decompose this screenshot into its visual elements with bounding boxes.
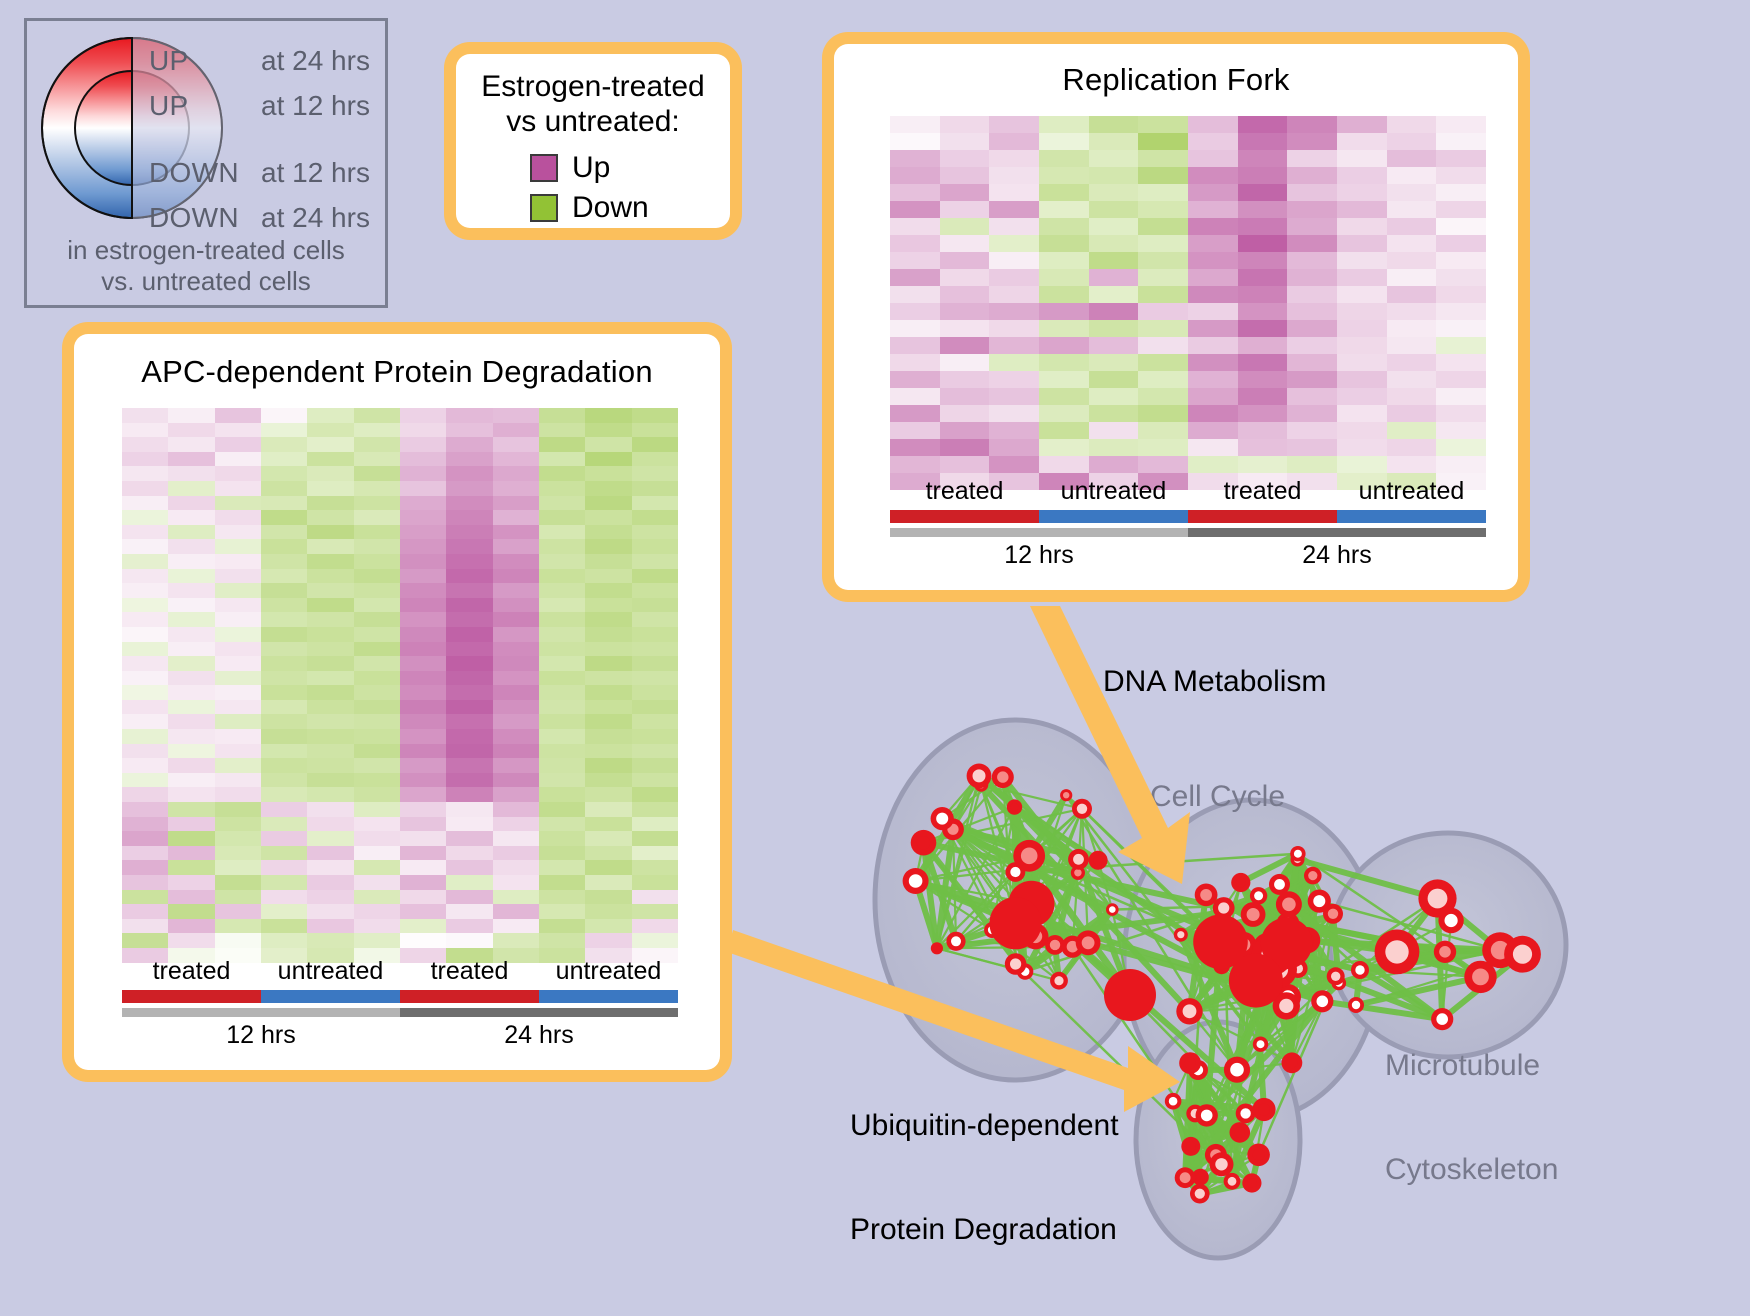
network-node[interactable]	[1076, 930, 1101, 955]
heatmap-cell	[940, 116, 990, 133]
network-node[interactable]	[1007, 799, 1022, 814]
heatmap-cell	[354, 437, 400, 452]
node-core	[1218, 902, 1229, 913]
legend-item-up: Up	[530, 148, 720, 188]
heatmap-cell	[400, 773, 446, 788]
node-core	[1195, 1189, 1205, 1199]
heatmap-cell	[585, 481, 631, 496]
network-node[interactable]	[1434, 941, 1456, 963]
heatmap-cell	[632, 744, 678, 759]
heatmap-cell	[1238, 371, 1288, 388]
heatmap-cell	[1089, 371, 1139, 388]
heatmap-cell	[354, 773, 400, 788]
network-node[interactable]	[989, 897, 1041, 949]
heatmap-cell	[989, 218, 1039, 235]
heatmap-cell	[307, 802, 353, 817]
network-node[interactable]	[1068, 849, 1089, 870]
heatmap-cell	[400, 846, 446, 861]
network-node[interactable]	[1175, 1167, 1196, 1188]
network-node[interactable]	[1176, 998, 1202, 1024]
heatmap-cell	[539, 919, 585, 934]
heatmap-cell	[1238, 354, 1288, 371]
network-node[interactable]	[1224, 1173, 1241, 1190]
heatmap-cell	[539, 423, 585, 438]
sample-group-colorbar-segment	[1039, 510, 1188, 523]
heatmap-cell	[261, 656, 307, 671]
heatmap-cell	[1287, 218, 1337, 235]
heatmap-cell	[1337, 456, 1387, 473]
heatmap-cell	[215, 846, 261, 861]
heatmap-cell	[890, 388, 940, 405]
heatmap-cell	[400, 831, 446, 846]
heatmap-cell	[261, 525, 307, 540]
network-node[interactable]	[1089, 851, 1108, 870]
heatmap-cell	[1337, 116, 1387, 133]
heatmap-cell	[307, 919, 353, 934]
heatmap-cell	[354, 466, 400, 481]
heatmap-cell	[1337, 133, 1387, 150]
heatmap-cell	[1188, 439, 1238, 456]
heatmap-cell	[1188, 150, 1238, 167]
heatmap-cell	[539, 656, 585, 671]
heatmap-cell	[261, 714, 307, 729]
heatmap-cell	[585, 466, 631, 481]
heatmap-cell	[446, 714, 492, 729]
heatmap-cell	[585, 714, 631, 729]
heatmap-cell	[989, 116, 1039, 133]
network-node[interactable]	[1072, 799, 1092, 819]
heatmap-cell	[307, 642, 353, 657]
heatmap-cell	[354, 554, 400, 569]
colorbar-row-value: at 24 hrs	[261, 202, 370, 234]
heatmap-cell	[1387, 371, 1437, 388]
heatmap-cell	[1238, 337, 1288, 354]
heatmap-cell	[989, 167, 1039, 184]
network-node[interactable]	[1290, 846, 1305, 861]
heatmap-cell	[1188, 218, 1238, 235]
heatmap-cell	[539, 758, 585, 773]
heatmap-cell	[446, 496, 492, 511]
heatmap-cell	[940, 269, 990, 286]
heatmap-cell	[400, 714, 446, 729]
timepoint-labels: 12 hrs24 hrs	[122, 1021, 678, 1050]
network-node[interactable]	[1165, 1093, 1182, 1110]
sample-group-colorbar-segment	[890, 510, 1039, 523]
network-node[interactable]	[1375, 930, 1420, 975]
heatmap-cell	[632, 846, 678, 861]
heatmap-cell	[539, 466, 585, 481]
heatmap-cell	[261, 817, 307, 832]
network-node[interactable]	[1282, 1052, 1303, 1073]
heatmap-cell	[1089, 405, 1139, 422]
heatmap-cell	[122, 802, 168, 817]
heatmap-cell	[1039, 371, 1089, 388]
node-core	[1200, 889, 1212, 901]
heatmap-cell	[1039, 388, 1089, 405]
heatmap-cell	[632, 423, 678, 438]
node-core	[1274, 879, 1285, 890]
heatmap-cell	[632, 671, 678, 686]
heatmap-cell	[1287, 422, 1337, 439]
heatmap-cell	[122, 539, 168, 554]
network-node[interactable]	[1308, 890, 1331, 913]
heatmap-cell	[1287, 133, 1337, 150]
heatmap-cell	[632, 539, 678, 554]
heatmap-cell	[168, 656, 214, 671]
heatmap-cell	[989, 201, 1039, 218]
heatmap-cell	[446, 933, 492, 948]
updown-legend-panel: Estrogen-treated vs untreated: Up Down	[444, 42, 742, 240]
heatmap-cell	[307, 466, 353, 481]
network-node[interactable]	[1195, 884, 1218, 907]
network-node[interactable]	[931, 807, 954, 830]
heatmap-cell	[890, 167, 940, 184]
heatmap-cell	[539, 671, 585, 686]
heatmap-cell	[215, 758, 261, 773]
node-core	[1054, 976, 1063, 985]
network-node[interactable]	[1181, 1137, 1200, 1156]
heatmap-cell	[539, 714, 585, 729]
heatmap-cell	[400, 598, 446, 613]
heatmap-cell	[1287, 320, 1337, 337]
heatmap-cell	[307, 831, 353, 846]
heatmap-cell	[307, 539, 353, 554]
network-node[interactable]	[1250, 887, 1267, 904]
node-core	[1082, 936, 1095, 949]
heatmap-cell	[446, 671, 492, 686]
heatmap-cell	[1138, 235, 1188, 252]
network-node[interactable]	[1253, 1037, 1268, 1052]
heatmap-cell	[1436, 388, 1486, 405]
heatmap-cell	[539, 539, 585, 554]
heatmap-cell	[446, 773, 492, 788]
heatmap-cell	[400, 919, 446, 934]
network-node[interactable]	[1231, 873, 1250, 892]
heatmap-cell	[215, 466, 261, 481]
apc-degradation-inner: APC-dependent Protein Degradation treate…	[74, 334, 720, 1070]
node-core	[1074, 869, 1081, 876]
network-node[interactable]	[1348, 997, 1364, 1013]
heatmap-cell	[400, 729, 446, 744]
heatmap-cell	[539, 744, 585, 759]
network-node[interactable]	[1230, 1122, 1251, 1143]
network-node[interactable]	[967, 764, 992, 789]
heatmap-cell	[446, 904, 492, 919]
heatmap-cell	[1238, 150, 1288, 167]
heatmap-cell	[1089, 439, 1139, 456]
apc-degradation-panel: APC-dependent Protein Degradation treate…	[62, 322, 732, 1082]
network-node[interactable]	[1210, 1152, 1234, 1176]
heatmap-cell	[307, 787, 353, 802]
heatmap-cell	[890, 269, 940, 286]
heatmap-cell	[1188, 371, 1238, 388]
heatmap-cell	[1188, 184, 1238, 201]
heatmap-cell	[122, 831, 168, 846]
heatmap-cell	[493, 656, 539, 671]
heatmap-cell	[989, 422, 1039, 439]
node-core	[1077, 804, 1087, 814]
heatmap-cell	[122, 875, 168, 890]
apc-degradation-heatmap	[122, 408, 678, 963]
heatmap-cell	[215, 612, 261, 627]
heatmap-cell	[1287, 286, 1337, 303]
heatmap-cell	[168, 744, 214, 759]
node-core	[1230, 1063, 1244, 1077]
heatmap-cell	[1238, 116, 1288, 133]
heatmap-cell	[1436, 269, 1486, 286]
node-outer-ring	[989, 897, 1041, 949]
heatmap-cell	[1039, 133, 1089, 150]
node-core	[1235, 1127, 1246, 1138]
heatmap-cell	[1436, 354, 1486, 371]
network-node[interactable]	[1504, 936, 1541, 973]
node-core	[1258, 1104, 1270, 1116]
heatmap-cell	[1337, 184, 1387, 201]
heatmap-cell	[585, 846, 631, 861]
node-core	[1253, 1149, 1265, 1161]
network-node[interactable]	[931, 942, 943, 954]
heatmap-cell	[1436, 405, 1486, 422]
heatmap-cell	[539, 846, 585, 861]
network-node[interactable]	[1196, 1104, 1218, 1126]
heatmap-cell	[940, 235, 990, 252]
heatmap-cell	[1287, 201, 1337, 218]
heatmap-cell	[261, 904, 307, 919]
node-core	[934, 945, 940, 951]
network-node[interactable]	[1304, 867, 1322, 885]
heatmap-cell	[493, 598, 539, 613]
heatmap-cell	[539, 729, 585, 744]
heatmap-cell	[493, 890, 539, 905]
heatmap-cell	[1337, 337, 1387, 354]
heatmap-cell	[539, 890, 585, 905]
network-node[interactable]	[911, 830, 937, 856]
network-node[interactable]	[1060, 789, 1072, 801]
replication-fork-heatmap	[890, 116, 1486, 490]
heatmap-cell	[1089, 201, 1139, 218]
colorbar-row-value: at 12 hrs	[261, 157, 370, 189]
heatmap-cell	[168, 525, 214, 540]
heatmap-cell	[1039, 320, 1089, 337]
network-node[interactable]	[1224, 1057, 1250, 1083]
heatmap-cell	[1188, 116, 1238, 133]
heatmap-cell	[890, 354, 940, 371]
node-core	[1183, 1004, 1197, 1018]
cluster-label-line-1: Ubiquitin-dependent	[850, 1109, 1119, 1144]
heatmap-cell	[585, 554, 631, 569]
heatmap-cell	[493, 569, 539, 584]
heatmap-cell	[354, 408, 400, 423]
heatmap-cell	[122, 671, 168, 686]
heatmap-cell	[261, 496, 307, 511]
heatmap-cell	[261, 875, 307, 890]
caption-line-1: in estrogen-treated cells	[27, 235, 385, 266]
heatmap-cell	[122, 919, 168, 934]
heatmap-cell	[354, 481, 400, 496]
heatmap-cell	[493, 525, 539, 540]
heatmap-cell	[261, 744, 307, 759]
heatmap-cell	[354, 452, 400, 467]
heatmap-cell	[539, 627, 585, 642]
node-core	[1215, 1158, 1227, 1170]
heatmap-cell	[446, 437, 492, 452]
heatmap-cell	[1238, 405, 1288, 422]
heatmap-cell	[122, 904, 168, 919]
heatmap-cell	[168, 685, 214, 700]
heatmap-cell	[168, 437, 214, 452]
updown-title-line-1: Estrogen-treated	[466, 70, 720, 105]
heatmap-cell	[307, 671, 353, 686]
heatmap-cell	[1188, 388, 1238, 405]
network-node[interactable]	[1252, 1098, 1275, 1121]
heatmap-cell	[215, 700, 261, 715]
heatmap-cell	[400, 627, 446, 642]
heatmap-cell	[493, 612, 539, 627]
heatmap-cell	[354, 802, 400, 817]
heatmap-cell	[890, 303, 940, 320]
updown-legend-title: Estrogen-treated vs untreated:	[466, 70, 720, 140]
heatmap-cell	[632, 656, 678, 671]
network-node[interactable]	[1351, 961, 1369, 979]
heatmap-cell	[1287, 150, 1337, 167]
heatmap-cell	[539, 569, 585, 584]
heatmap-cell	[354, 496, 400, 511]
timepoint-label: 12 hrs	[122, 1021, 400, 1050]
heatmap-cell	[940, 354, 990, 371]
heatmap-cell	[168, 496, 214, 511]
heatmap-cell	[122, 510, 168, 525]
network-node[interactable]	[1247, 1144, 1270, 1167]
heatmap-cell	[168, 583, 214, 598]
cluster-label-dna-metabolism: DNA Metabolism	[1103, 665, 1326, 700]
heatmap-cell	[400, 685, 446, 700]
heatmap-cell	[400, 700, 446, 715]
heatmap-cell	[446, 554, 492, 569]
heatmap-cell	[168, 890, 214, 905]
heatmap-cell	[122, 846, 168, 861]
heatmap-cell	[1089, 456, 1139, 473]
network-node[interactable]	[1050, 972, 1068, 990]
heatmap-cell	[493, 700, 539, 715]
heatmap-cell	[168, 569, 214, 584]
heatmap-cell	[989, 286, 1039, 303]
node-core	[1308, 871, 1317, 880]
network-node[interactable]	[1193, 915, 1248, 970]
network-node[interactable]	[1005, 953, 1027, 975]
network-node[interactable]	[1013, 840, 1045, 872]
heatmap-cell	[215, 510, 261, 525]
heatmap-cell	[307, 714, 353, 729]
heatmap-cell	[585, 758, 631, 773]
network-node[interactable]	[1418, 879, 1456, 917]
heatmap-cell	[1089, 116, 1139, 133]
heatmap-cell	[168, 408, 214, 423]
network-node[interactable]	[1276, 891, 1302, 917]
heatmap-cell	[261, 919, 307, 934]
sample-group-label: treated	[122, 957, 261, 986]
heatmap-cell	[493, 510, 539, 525]
heatmap-cell	[261, 642, 307, 657]
heatmap-cell	[446, 685, 492, 700]
timepoint-colorbar	[122, 1008, 678, 1017]
node-core	[1247, 908, 1260, 921]
network-node[interactable]	[946, 932, 965, 951]
heatmap-cell	[1188, 456, 1238, 473]
network-node[interactable]	[1174, 928, 1188, 942]
heatmap-cell	[307, 569, 353, 584]
colorbar-row-value: at 12 hrs	[261, 90, 370, 122]
network-node[interactable]	[1104, 969, 1156, 1021]
heatmap-cell	[215, 423, 261, 438]
heatmap-cell	[354, 714, 400, 729]
node-core	[936, 813, 948, 825]
heatmap-cell	[493, 671, 539, 686]
heatmap-cell	[585, 627, 631, 642]
heatmap-cell	[940, 388, 990, 405]
node-core	[1352, 1001, 1360, 1009]
heatmap-cell	[168, 452, 214, 467]
network-node[interactable]	[1327, 967, 1345, 985]
colorbar-row-key: UP	[149, 90, 261, 122]
heatmap-cell	[1436, 422, 1486, 439]
heatmap-cell	[261, 466, 307, 481]
heatmap-cell	[446, 583, 492, 598]
heatmap-cell	[1238, 388, 1288, 405]
network-node[interactable]	[1106, 903, 1119, 916]
heatmap-cell	[1387, 388, 1437, 405]
heatmap-cell	[215, 598, 261, 613]
network-node[interactable]	[992, 766, 1014, 788]
heatmap-cell	[354, 539, 400, 554]
heatmap-cell	[1089, 269, 1139, 286]
network-node[interactable]	[1311, 990, 1333, 1012]
heatmap-cell	[1287, 388, 1337, 405]
heatmap-cell	[168, 423, 214, 438]
node-core	[1287, 1057, 1298, 1068]
heatmap-cell	[632, 554, 678, 569]
network-node[interactable]	[1236, 1104, 1256, 1124]
network-node[interactable]	[1190, 1184, 1210, 1204]
heatmap-cell	[493, 773, 539, 788]
heatmap-cell	[1387, 337, 1437, 354]
heatmap-cell	[400, 539, 446, 554]
heatmap-cell	[539, 525, 585, 540]
node-core	[1185, 1058, 1196, 1069]
heatmap-cell	[215, 525, 261, 540]
heatmap-cell	[307, 729, 353, 744]
colorbar-row-key: UP	[149, 45, 261, 77]
heatmap-cell	[215, 539, 261, 554]
network-node[interactable]	[1179, 1052, 1201, 1074]
heatmap-cell	[493, 933, 539, 948]
heatmap-cell	[446, 510, 492, 525]
network-node[interactable]	[903, 868, 929, 894]
heatmap-cell	[400, 875, 446, 890]
heatmap-cell	[1039, 405, 1089, 422]
network-node[interactable]	[1241, 902, 1266, 927]
heatmap-cell	[1039, 252, 1089, 269]
heatmap-cell	[1387, 439, 1437, 456]
network-node[interactable]	[1242, 1173, 1261, 1192]
heatmap-cell	[168, 642, 214, 657]
node-core	[1169, 1097, 1178, 1106]
heatmap-cell	[168, 729, 214, 744]
heatmap-cell	[1387, 133, 1437, 150]
heatmap-cell	[354, 860, 400, 875]
heatmap-cell	[1387, 116, 1437, 133]
heatmap-cell	[493, 452, 539, 467]
heatmap-cell	[989, 303, 1039, 320]
